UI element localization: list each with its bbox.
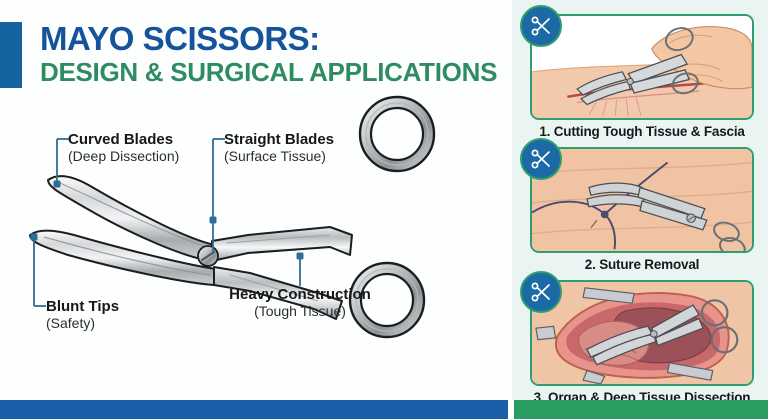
callout-subtitle: (Tough Tissue) bbox=[184, 303, 416, 320]
scissors-icon bbox=[529, 14, 553, 38]
panel-frame bbox=[530, 147, 754, 253]
illustration-suture-removal bbox=[532, 149, 752, 251]
page-title: MAYO SCISSORS: bbox=[40, 22, 320, 57]
illustration-organ-dissection bbox=[532, 282, 752, 384]
scissors-icon bbox=[529, 147, 553, 171]
scissors-icon bbox=[529, 280, 553, 304]
callout-curved-blades: Curved Blades (Deep Dissection) bbox=[68, 131, 179, 165]
application-panel-2[interactable]: 2. Suture Removal bbox=[530, 147, 754, 272]
callout-straight-blades: Straight Blades (Surface Tissue) bbox=[224, 131, 334, 165]
footer-bar-blue bbox=[0, 400, 512, 419]
callout-subtitle: (Deep Dissection) bbox=[68, 148, 179, 165]
callout-title: Curved Blades bbox=[68, 131, 179, 148]
application-panel-3[interactable]: 3. Organ & Deep Tissue Dissection bbox=[530, 280, 754, 405]
panel-caption-1: 1. Cutting Tough Tissue & Fascia bbox=[530, 124, 754, 139]
panel-badge-2 bbox=[520, 138, 562, 180]
illustration-cutting-fascia bbox=[532, 16, 752, 118]
footer-bar-divider bbox=[508, 400, 514, 419]
panel-frame bbox=[530, 14, 754, 120]
panel-badge-3 bbox=[520, 271, 562, 313]
footer-bar-green bbox=[512, 400, 768, 419]
applications-section: 1. Cutting Tough Tissue & Fascia bbox=[512, 0, 768, 400]
diagram-section: MAYO SCISSORS: DESIGN & SURGICAL APPLICA… bbox=[0, 0, 512, 400]
upper-finger-ring bbox=[360, 97, 434, 171]
callout-blunt-tips: Blunt Tips (Safety) bbox=[46, 298, 119, 332]
callout-subtitle: (Surface Tissue) bbox=[224, 148, 334, 165]
callout-heavy-construction: Heavy Construction (Tough Tissue) bbox=[184, 286, 416, 320]
application-panel-1[interactable]: 1. Cutting Tough Tissue & Fascia bbox=[530, 14, 754, 139]
title-accent-bar bbox=[0, 22, 22, 88]
callout-title: Straight Blades bbox=[224, 131, 334, 148]
infographic-root: MAYO SCISSORS: DESIGN & SURGICAL APPLICA… bbox=[0, 0, 768, 419]
callout-title: Blunt Tips bbox=[46, 298, 119, 315]
callout-title: Heavy Construction bbox=[184, 286, 416, 303]
callout-subtitle: (Safety) bbox=[46, 315, 119, 332]
page-subtitle: DESIGN & SURGICAL APPLICATIONS bbox=[40, 58, 497, 87]
panel-badge-1 bbox=[520, 5, 562, 47]
panel-caption-2: 2. Suture Removal bbox=[530, 257, 754, 272]
panel-frame bbox=[530, 280, 754, 386]
